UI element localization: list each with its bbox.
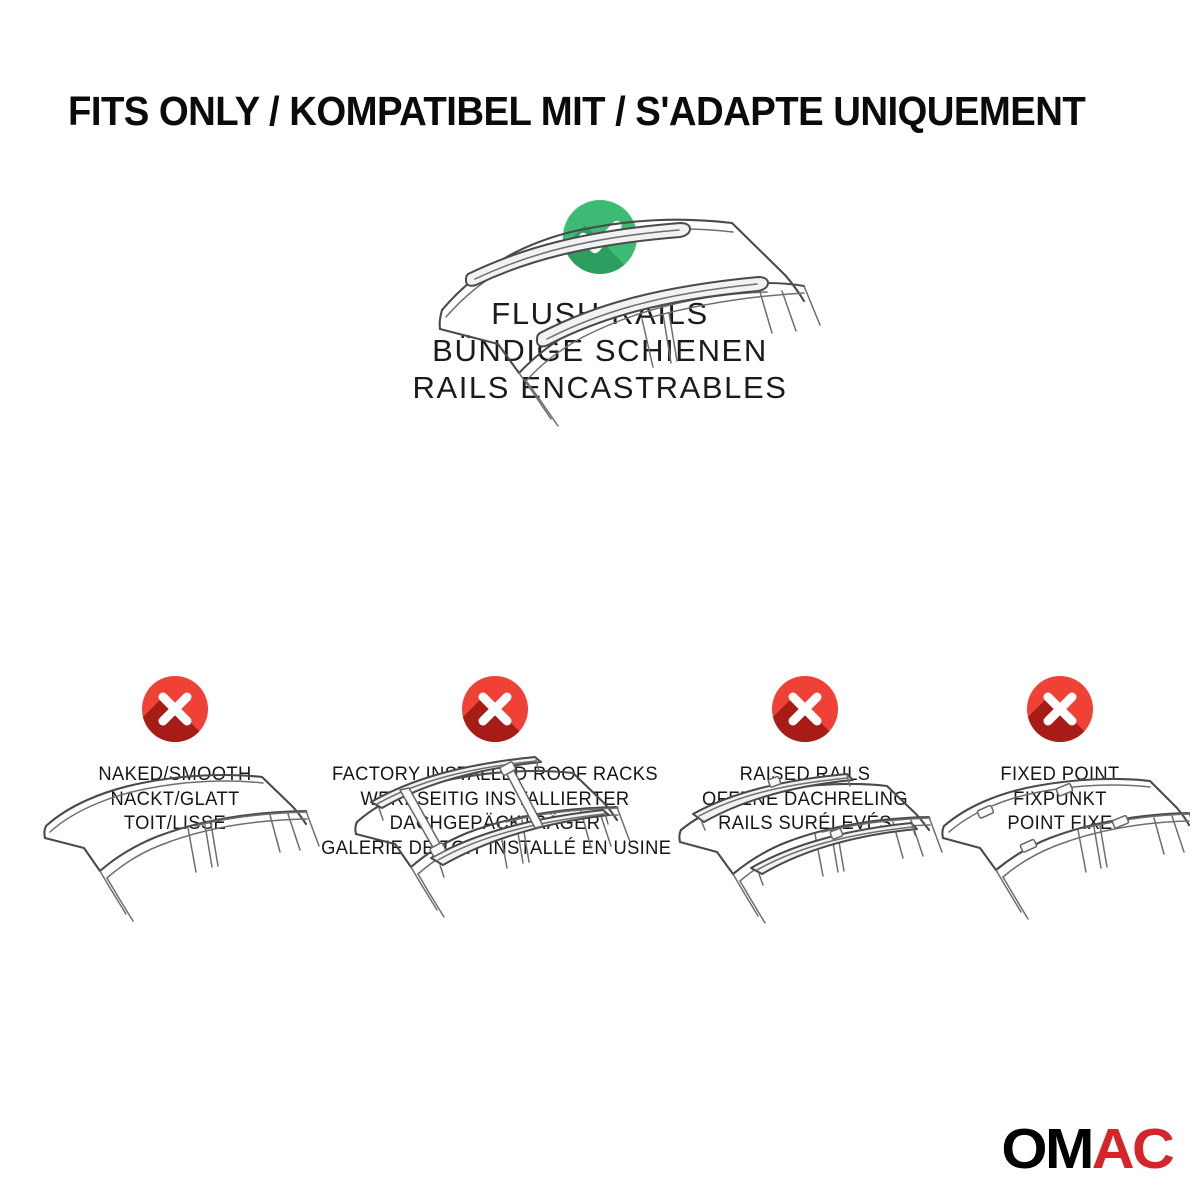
incompatible-column-raised-rails: RAISED RAILS OFFENE DACHRELING RAILS SUR…	[665, 676, 945, 836]
infographic-canvas: FITS ONLY / KOMPATIBEL MIT / S'ADAPTE UN…	[0, 0, 1200, 1200]
x-circle-icon	[142, 676, 208, 742]
logo-text-ac: AC	[1092, 1117, 1172, 1181]
omac-logo: OMAC	[1001, 1120, 1172, 1178]
x-circle-icon	[462, 676, 528, 742]
car-roof-factory-installed-roof-racks-illustration	[335, 748, 655, 953]
badge-wrap	[310, 676, 680, 754]
logo-text-om: OM	[1001, 1117, 1091, 1181]
badge-wrap	[935, 676, 1185, 754]
car-roof-naked-smooth-illustration	[30, 768, 320, 953]
x-circle-icon	[1027, 676, 1093, 742]
car-roof-raised-rails-illustration	[655, 768, 955, 953]
badge-wrap	[665, 676, 945, 754]
x-circle-icon	[772, 676, 838, 742]
car-roof-with-flush-rails-illustration	[380, 205, 830, 435]
car-roof-fixed-point-illustration	[930, 768, 1190, 953]
incompatible-column-fixed-point: FIXED POINT FIXPUNKT POINT FIXE	[935, 676, 1185, 836]
incompatible-column-naked-smooth: NAKED/SMOOTH NACKT/GLATT TOIT/LISSE	[30, 676, 320, 836]
badge-wrap	[30, 676, 320, 754]
page-title: FITS ONLY / KOMPATIBEL MIT / S'ADAPTE UN…	[68, 88, 1068, 134]
incompatible-column-factory-installed-roof-racks: FACTORY INSTALLED ROOF RACKS WERKSEITIG …	[310, 676, 680, 860]
